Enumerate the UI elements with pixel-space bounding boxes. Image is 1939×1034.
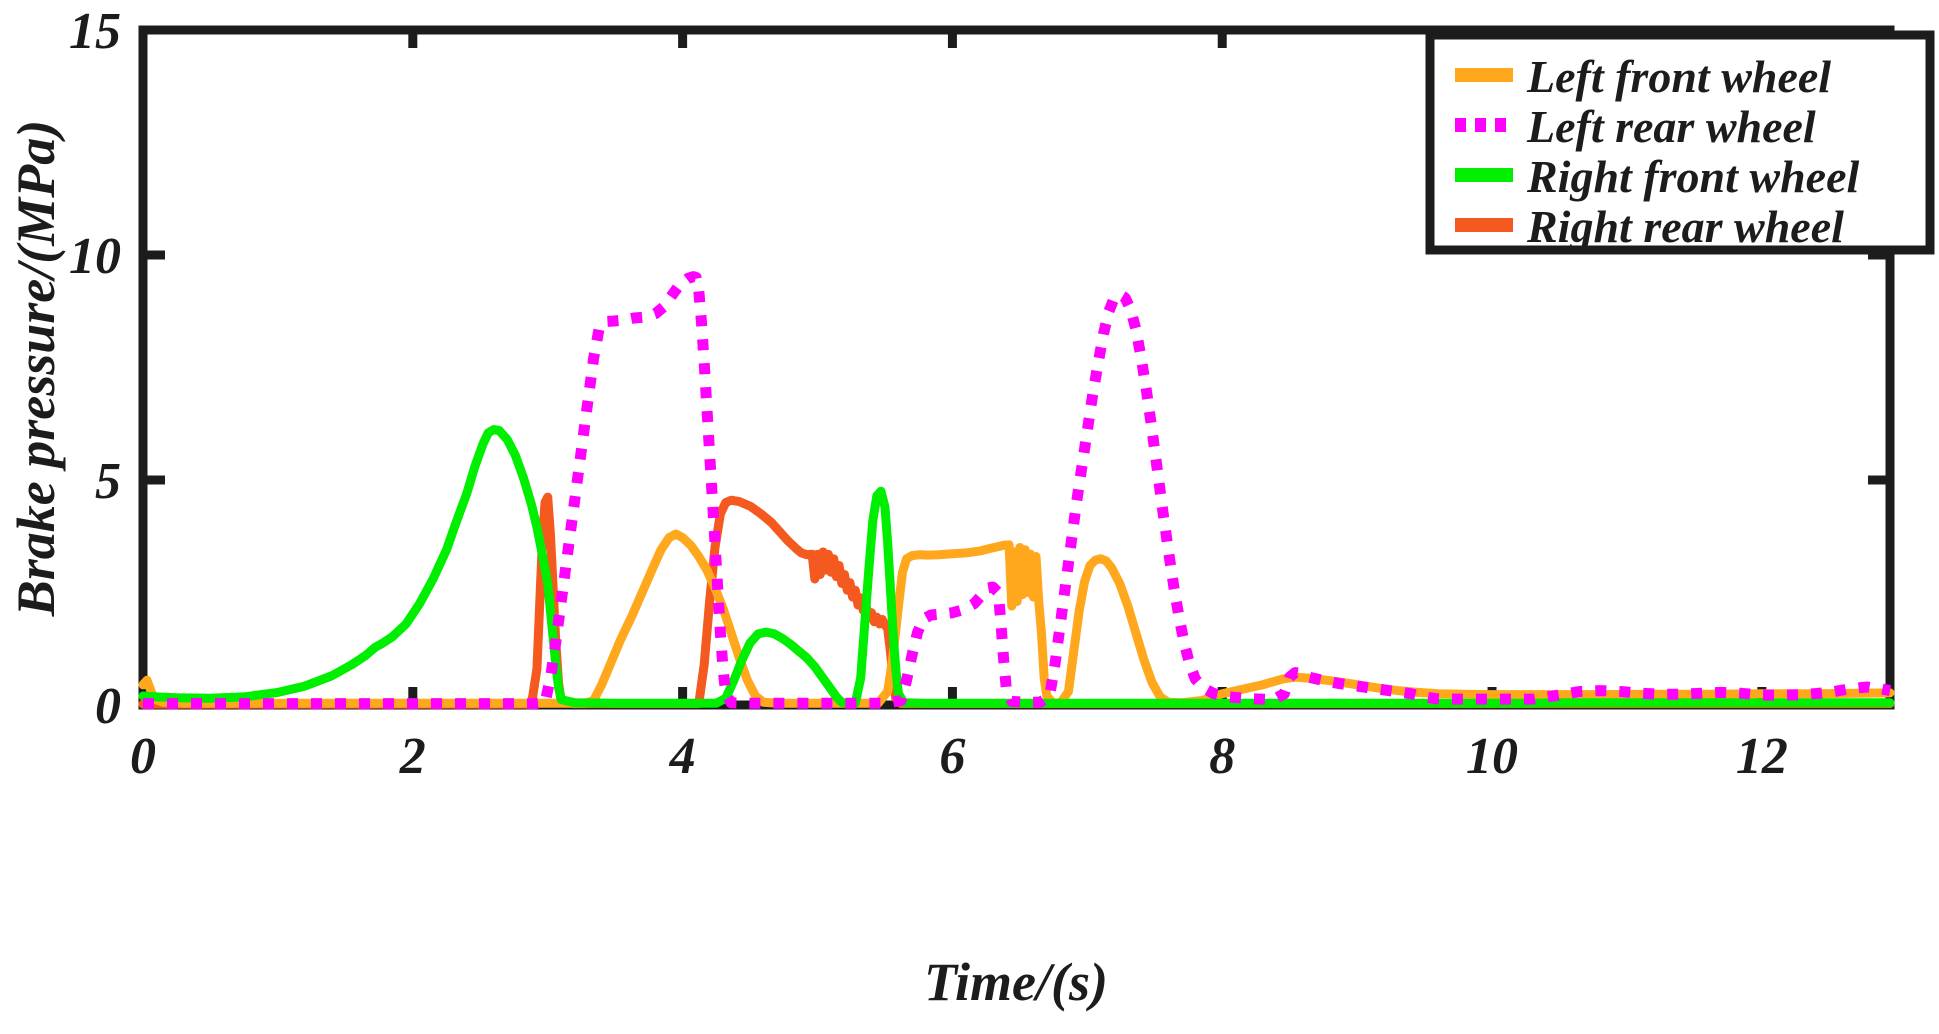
brake-pressure-chart: 024681012 051015 Time/(s) Brake pressure… xyxy=(0,0,1939,1034)
y-tick-label: 5 xyxy=(95,453,121,510)
x-tick-label: 0 xyxy=(130,728,156,785)
x-tick-label: 4 xyxy=(669,728,696,785)
legend-label: Right front wheel xyxy=(1526,151,1860,202)
y-tick-label: 0 xyxy=(95,678,121,735)
x-axis-title: Time/(s) xyxy=(924,952,1108,1012)
x-tick-label: 2 xyxy=(399,728,426,785)
x-tick-label: 12 xyxy=(1736,728,1788,785)
legend-label: Right rear wheel xyxy=(1526,201,1844,252)
y-tick-label: 15 xyxy=(69,3,121,60)
y-axis-title: Brake pressure/(MPa) xyxy=(6,120,66,618)
x-tick-label: 8 xyxy=(1209,728,1235,785)
x-tick-label: 6 xyxy=(939,728,965,785)
y-tick-label: 10 xyxy=(69,228,121,285)
legend: Left front wheelLeft rear wheelRight fro… xyxy=(1430,35,1930,252)
legend-label: Left front wheel xyxy=(1526,51,1831,102)
x-tick-label: 10 xyxy=(1466,728,1518,785)
legend-label: Left rear wheel xyxy=(1526,101,1816,152)
